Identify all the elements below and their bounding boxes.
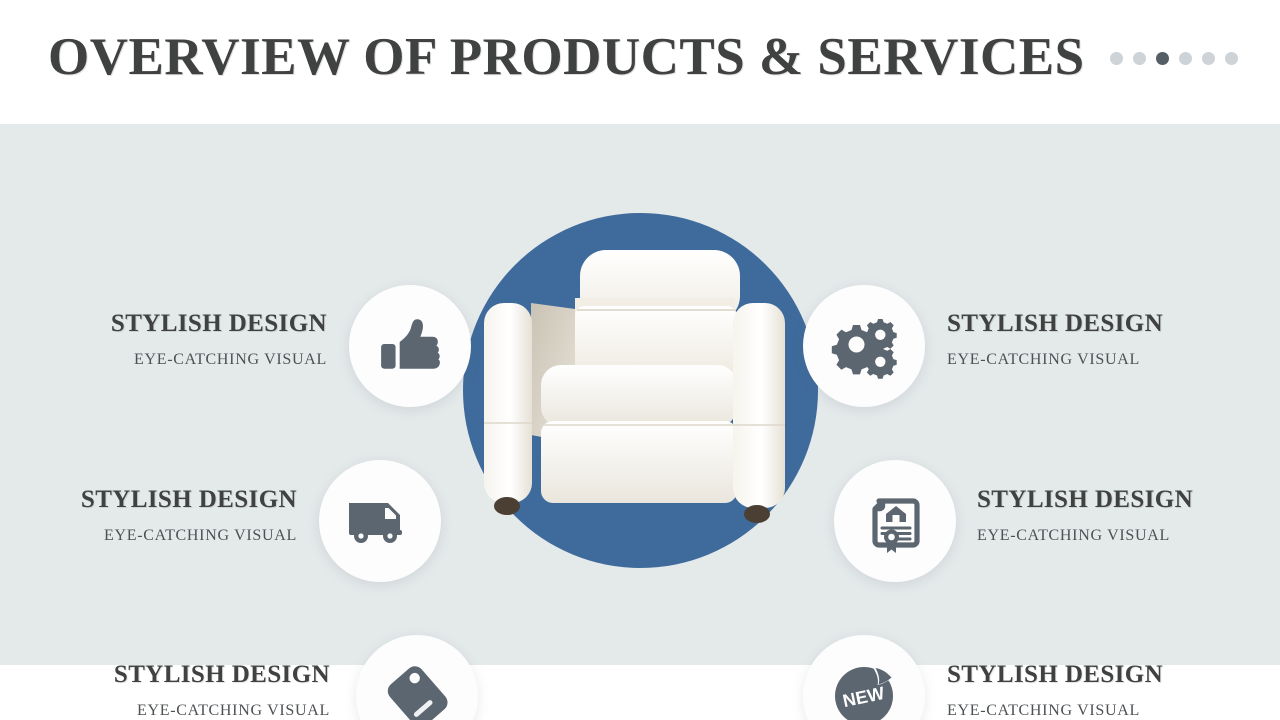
feature-heading-6: STYLISH DESIGN	[947, 661, 1163, 689]
pagination-dots[interactable]	[1110, 52, 1238, 65]
feature-subheading-2: EYE-CATCHING VISUAL	[81, 527, 297, 545]
icon-bubble-new-sticker[interactable]: NEW	[803, 635, 925, 720]
feature-subheading-4: EYE-CATCHING VISUAL	[947, 351, 1163, 369]
pagination-dot-5[interactable]	[1202, 52, 1215, 65]
feature-text-3: STYLISH DESIGN EYE-CATCHING VISUAL	[114, 661, 330, 720]
icon-bubble-thumbs-up[interactable]	[349, 285, 471, 407]
feature-subheading-5: EYE-CATCHING VISUAL	[977, 527, 1193, 545]
pagination-dot-2[interactable]	[1133, 52, 1146, 65]
slide-root: OVERVIEW OF PRODUCTS & SERVICES	[0, 0, 1280, 720]
feature-heading-3: STYLISH DESIGN	[114, 661, 330, 689]
feature-subheading-3: EYE-CATCHING VISUAL	[114, 702, 330, 720]
icon-bubble-certificate[interactable]	[834, 460, 956, 582]
feature-text-5: STYLISH DESIGN EYE-CATCHING VISUAL	[977, 486, 1193, 545]
page-title: OVERVIEW OF PRODUCTS & SERVICES	[48, 27, 1085, 87]
feature-heading-1: STYLISH DESIGN	[111, 310, 327, 338]
gears-icon	[829, 311, 899, 381]
icon-bubble-price-tag[interactable]	[356, 635, 478, 720]
feature-subheading-6: EYE-CATCHING VISUAL	[947, 702, 1163, 720]
delivery-truck-icon	[344, 485, 416, 557]
icon-bubble-gears[interactable]	[803, 285, 925, 407]
pagination-dot-4[interactable]	[1179, 52, 1192, 65]
pagination-dot-6[interactable]	[1225, 52, 1238, 65]
feature-text-1: STYLISH DESIGN EYE-CATCHING VISUAL	[111, 310, 327, 369]
armchair-image	[463, 213, 818, 568]
price-tag-icon	[383, 662, 451, 720]
slide-header: OVERVIEW OF PRODUCTS & SERVICES	[0, 0, 1280, 124]
pagination-dot-3-active[interactable]	[1156, 52, 1169, 65]
new-sticker-icon: NEW	[829, 661, 899, 720]
feature-text-2: STYLISH DESIGN EYE-CATCHING VISUAL	[81, 486, 297, 545]
thumbs-up-icon	[377, 313, 443, 379]
feature-heading-5: STYLISH DESIGN	[977, 486, 1193, 514]
content-panel: NEW STYLISH DESIGN EYE-CATCHING VISUAL S…	[0, 124, 1280, 665]
certificate-icon	[861, 487, 929, 555]
center-stage	[463, 213, 818, 568]
feature-text-4: STYLISH DESIGN EYE-CATCHING VISUAL	[947, 310, 1163, 369]
feature-text-6: STYLISH DESIGN EYE-CATCHING VISUAL	[947, 661, 1163, 720]
icon-bubble-delivery-truck[interactable]	[319, 460, 441, 582]
feature-subheading-1: EYE-CATCHING VISUAL	[111, 351, 327, 369]
pagination-dot-1[interactable]	[1110, 52, 1123, 65]
feature-heading-4: STYLISH DESIGN	[947, 310, 1163, 338]
feature-heading-2: STYLISH DESIGN	[81, 486, 297, 514]
